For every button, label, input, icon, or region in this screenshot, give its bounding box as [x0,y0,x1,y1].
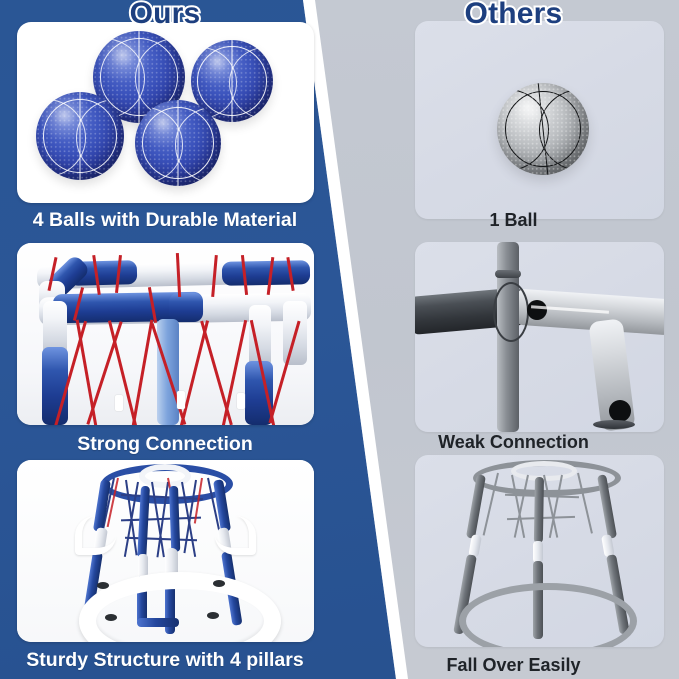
ball-seam [175,107,221,183]
ours-panel-1-image [17,22,314,203]
others-panel-1-caption: 1 Ball [348,210,679,231]
pipe-blue-right-leg [245,361,273,425]
blue-hoop-rig-art [17,460,314,642]
pipe-joint-art [17,243,314,425]
others-panel-2-image [415,242,664,432]
red-cord [132,320,154,425]
base-cross-bar [137,618,179,627]
base-ring [459,583,637,647]
others-panel-1-image [415,21,664,219]
basketball-grey-1 [497,83,589,175]
ours-panel-2-caption: Strong Connection [0,433,330,456]
ball-seam [537,83,548,175]
base-bolt [213,580,225,587]
ball-seam [232,40,233,122]
pipe-blue-front-collar [169,293,203,322]
white-clip [177,391,185,409]
base-ring [79,572,281,642]
ball-seam [36,99,86,177]
others-panel-3-caption: Fall Over Easily [348,655,679,676]
ours-panel-3-image [17,460,314,642]
base-bolt [97,582,109,589]
ours-panel-3-caption: Sturdy Structure with 4 pillars [0,649,330,672]
ball-seam [197,46,267,116]
basketball-blue-4 [135,100,221,186]
base-bolt [207,612,219,619]
others-panel-2-caption: Weak Connection [348,432,679,453]
ball-seam [76,99,124,177]
ball-seam [135,107,183,183]
grey-hoop-rig-art [415,455,664,647]
basketball-blue-3 [36,92,124,180]
joint-collar [493,282,529,342]
four-blue-basketballs-art [17,22,314,203]
ball-seam [80,92,81,180]
others-title: Others [348,0,679,31]
leg-3-upper [534,477,544,543]
ball-seam [505,91,581,167]
ours-title: Ours [0,0,330,31]
ball-seam [539,89,589,172]
base-bolt [105,614,117,621]
ours-panel-1-caption: 4 Balls with Durable Material [0,209,330,232]
ball-seam [178,100,179,186]
others-panel-3-image [415,455,664,647]
white-clip [237,393,245,409]
comparison-infographic: Ours [0,0,679,679]
pipe-blue-left-leg [42,347,68,425]
leg-end-cap [593,420,635,429]
ball-seam [497,89,549,172]
grey-joint-art [415,242,664,432]
pipe-blue-top-right [222,260,310,286]
open-hole-2 [609,400,631,422]
red-cord [222,320,247,425]
ball-seam [229,47,273,120]
ball-seam [43,99,117,173]
open-hole-1 [527,300,547,320]
ours-panel-2-image [17,243,314,425]
leg-3-joint [533,541,543,563]
post-collar-top [495,270,521,278]
ball-seam [142,107,214,179]
ball-hook-left [75,516,116,555]
white-clip [115,395,123,411]
ball-hook-right [215,516,256,555]
